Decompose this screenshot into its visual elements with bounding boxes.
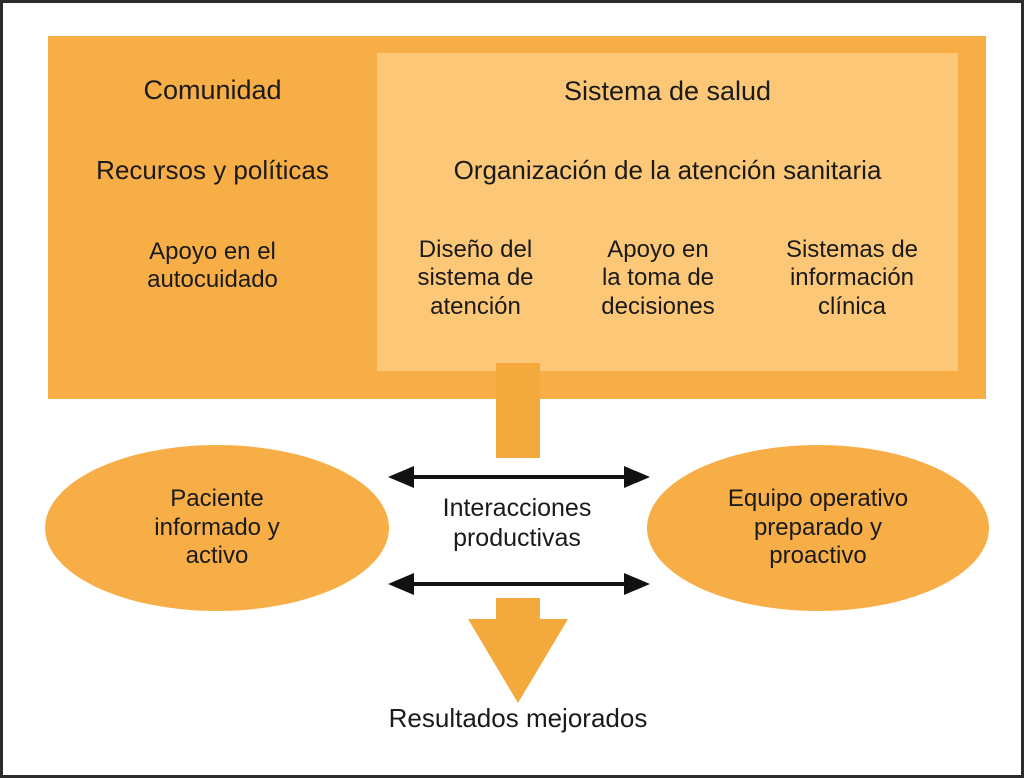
health-system-heading: Sistema de salud xyxy=(377,76,958,108)
community-heading: Comunidad xyxy=(48,75,377,107)
health-system-subheading: Organización de la atención sanitaria xyxy=(377,155,958,186)
care-team-ellipse: Equipo operativo preparado y proactivo xyxy=(647,445,989,611)
interactions-label: Interacciones productivas xyxy=(389,493,645,553)
community-item-self-care-support: Apoyo en el autocuidado xyxy=(48,238,377,295)
health-system-column-decision-support: Apoyo en la toma de decisiones xyxy=(572,236,744,321)
community-subheading: Recursos y políticas xyxy=(48,155,377,186)
health-system-column-delivery-system-design: Diseño del sistema de atención xyxy=(384,236,567,321)
patient-ellipse-label: Paciente informado y activo xyxy=(154,485,279,571)
outcome-label: Resultados mejorados xyxy=(258,703,778,734)
health-system-column-clinical-information-systems: Sistemas de información clínica xyxy=(754,236,950,321)
interaction-arrow-top-icon xyxy=(386,462,652,492)
diagram-canvas: Comunidad Recursos y políticas Apoyo en … xyxy=(0,0,1024,778)
patient-ellipse: Paciente informado y activo xyxy=(45,445,389,611)
interaction-arrow-bottom-icon xyxy=(386,569,652,599)
care-team-ellipse-label: Equipo operativo preparado y proactivo xyxy=(728,485,908,571)
